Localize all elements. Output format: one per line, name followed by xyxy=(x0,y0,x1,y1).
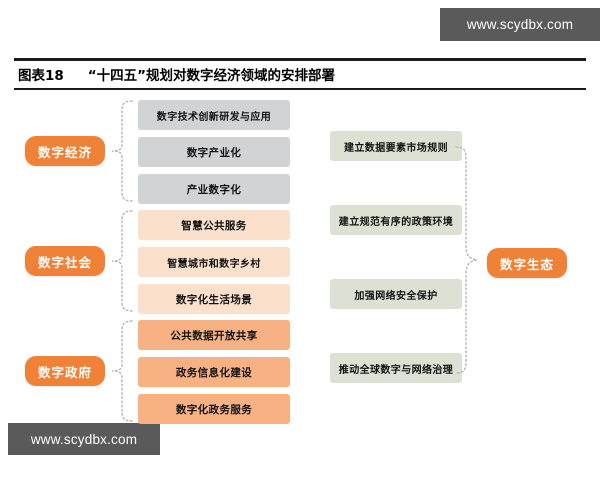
brace-digital-society xyxy=(108,210,134,312)
item-box[interactable]: 公共数据开放共享 xyxy=(138,320,290,350)
item-box[interactable]: 政务信息化建设 xyxy=(138,357,290,387)
item-box[interactable]: 建立数据要素市场规则 xyxy=(330,131,462,161)
item-box[interactable]: 数字产业化 xyxy=(138,137,290,167)
diagram-canvas: 数字经济 数字技术创新研发与应用 数字产业化 产业数字化 数字社会 智慧公共服务… xyxy=(0,88,600,438)
figure-index-label: 图表18 xyxy=(18,64,64,84)
item-box[interactable]: 数字化政务服务 xyxy=(138,394,290,424)
category-pill-digital-ecosystem[interactable]: 数字生态 xyxy=(487,248,567,278)
item-box[interactable]: 数字技术创新研发与应用 xyxy=(138,100,290,130)
brace-digital-economy xyxy=(108,100,134,202)
figure-title-block: 图表18 “十四五”规划对数字经济领域的安排部署 xyxy=(14,58,586,90)
item-box[interactable]: 智慧公共服务 xyxy=(138,210,290,240)
brace-digital-ecosystem xyxy=(452,146,480,374)
watermark-top: www.scydbx.com xyxy=(440,8,600,41)
item-box[interactable]: 智慧城市和数字乡村 xyxy=(138,247,290,277)
title-row: 图表18 “十四五”规划对数字经济领域的安排部署 xyxy=(14,61,586,88)
item-box[interactable]: 产业数字化 xyxy=(138,174,290,204)
item-box[interactable]: 建立规范有序的政策环境 xyxy=(330,205,462,235)
item-box[interactable]: 数字化生活场景 xyxy=(138,284,290,314)
brace-digital-government xyxy=(108,320,134,422)
item-box[interactable]: 加强网络安全保护 xyxy=(330,279,462,309)
category-pill-digital-society[interactable]: 数字社会 xyxy=(25,246,105,276)
figure-page: www.scydbx.com www.scydbx.com 图表18 “十四五”… xyxy=(0,0,600,480)
page-title: “十四五”规划对数字经济领域的安排部署 xyxy=(88,64,335,84)
category-pill-digital-economy[interactable]: 数字经济 xyxy=(25,136,105,166)
category-pill-digital-government[interactable]: 数字政府 xyxy=(25,356,105,386)
item-box[interactable]: 推动全球数字与网络治理 xyxy=(330,353,462,383)
